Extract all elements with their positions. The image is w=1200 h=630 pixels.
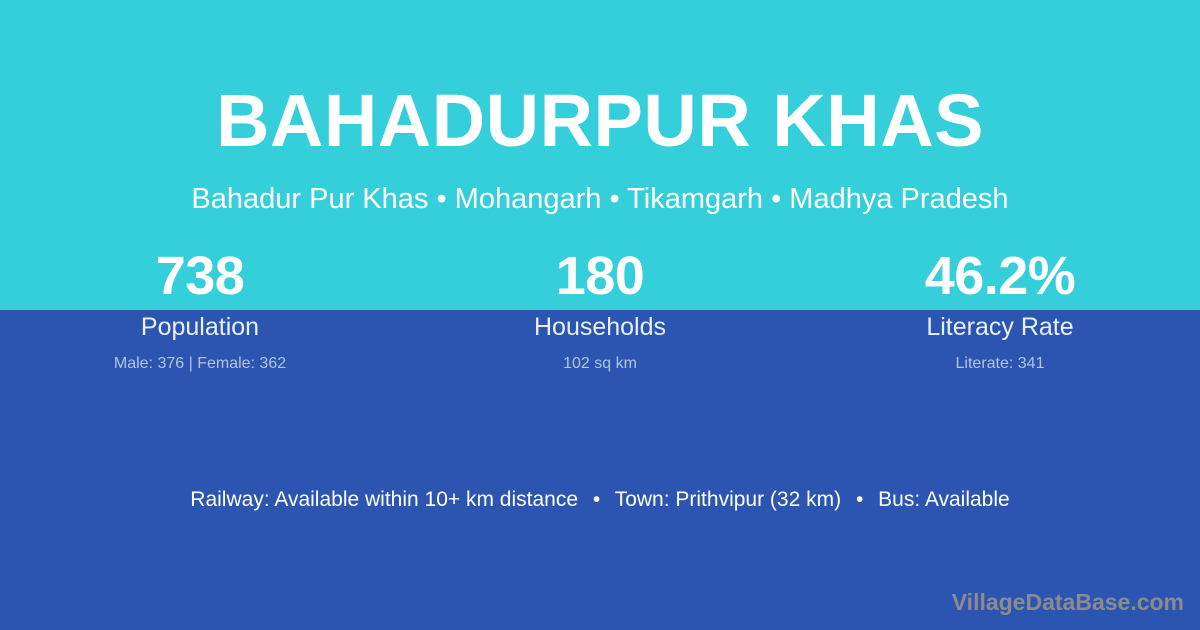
stat-households: 180 Households 102 sq km [400, 246, 800, 375]
amenities-line: Railway: Available within 10+ km distanc… [0, 486, 1200, 514]
site-watermark: VillageDataBase.com [952, 588, 1184, 616]
stat-value: 46.2% [800, 246, 1200, 306]
stat-sub-detail: 102 sq km [400, 353, 800, 375]
breadcrumb: Bahadur Pur Khas • Mohangarh • Tikamgarh… [0, 181, 1200, 217]
village-info-card: BAHADURPUR KHAS Bahadur Pur Khas • Mohan… [0, 0, 1200, 630]
stat-value: 180 [400, 246, 800, 306]
amenity-railway: Railway: Available within 10+ km distanc… [190, 488, 578, 511]
stats-row: 738 Population Male: 376 | Female: 362 1… [0, 246, 1200, 375]
stat-label: Population [0, 312, 400, 342]
stat-sub-detail: Literate: 341 [800, 353, 1200, 375]
stat-sub-detail: Male: 376 | Female: 362 [0, 353, 400, 375]
stat-label: Households [400, 312, 800, 342]
stat-value: 738 [0, 246, 400, 306]
card-content: BAHADURPUR KHAS Bahadur Pur Khas • Mohan… [0, 0, 1200, 630]
amenity-town: Town: Prithvipur (32 km) [615, 488, 841, 511]
stat-literacy-rate: 46.2% Literacy Rate Literate: 341 [800, 246, 1200, 375]
stat-population: 738 Population Male: 376 | Female: 362 [0, 246, 400, 375]
amenity-separator: • [847, 486, 872, 514]
amenity-bus: Bus: Available [878, 488, 1010, 511]
page-title: BAHADURPUR KHAS [0, 84, 1200, 158]
amenity-separator: • [584, 486, 609, 514]
stat-label: Literacy Rate [800, 312, 1200, 342]
